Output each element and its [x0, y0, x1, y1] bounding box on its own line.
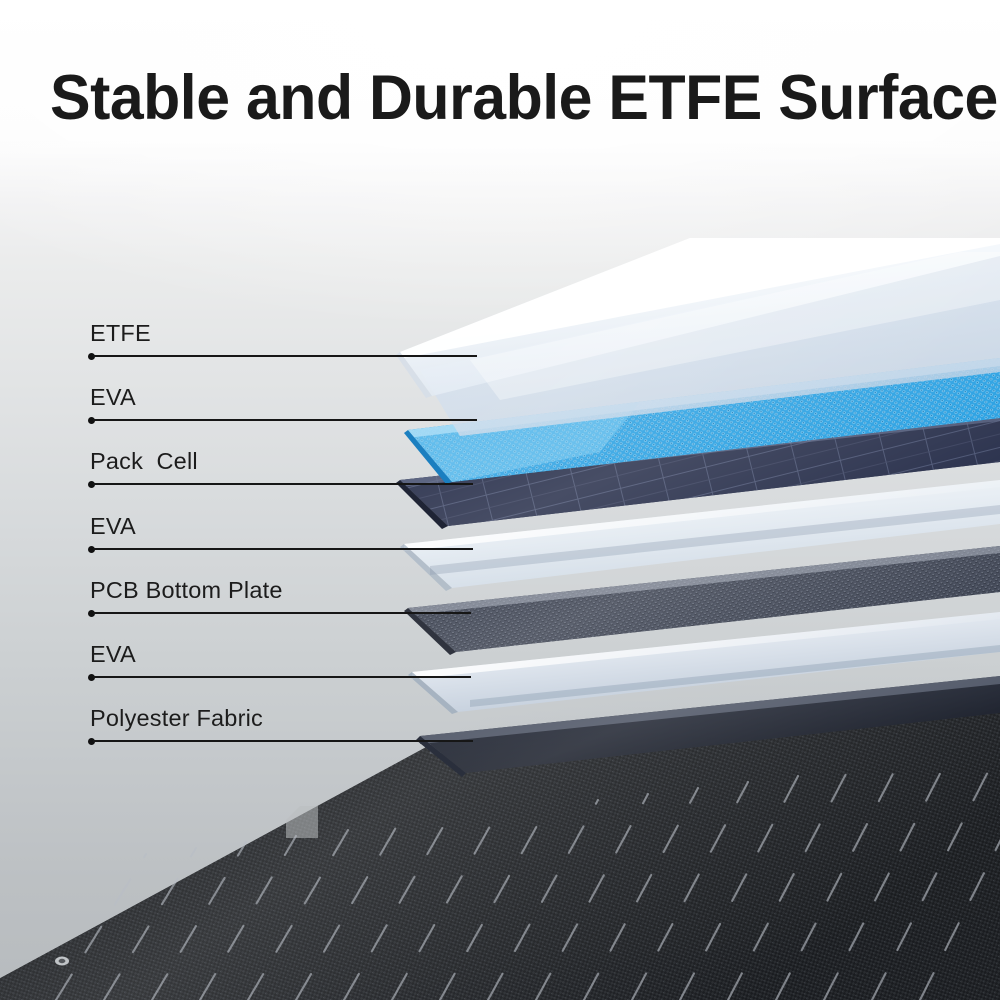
- callout-label-pack-cell: Pack Cell: [90, 448, 198, 474]
- callout-line-polyester-fabric: [93, 740, 473, 742]
- callout-line-eva-1: [93, 419, 477, 421]
- product-infographic-page: Stable and Durable ETFE Surface ETFE EVA…: [0, 0, 1000, 1000]
- callout-label-etfe: ETFE: [90, 320, 151, 346]
- callout-label-eva-2: EVA: [90, 513, 136, 539]
- callout-label-eva-3: EVA: [90, 641, 136, 667]
- layer-callouts: ETFE EVA Pack Cell EVA PCB Bottom Plate …: [0, 0, 1000, 1000]
- callout-line-eva-2: [93, 548, 473, 550]
- callout-label-polyester-fabric: Polyester Fabric: [90, 705, 263, 731]
- callout-line-pcb-bottom-plate: [93, 612, 471, 614]
- callout-line-eva-3: [93, 676, 471, 678]
- callout-line-etfe: [93, 355, 477, 357]
- callout-label-eva-1: EVA: [90, 384, 136, 410]
- callout-label-pcb-bottom-plate: PCB Bottom Plate: [90, 577, 283, 603]
- callout-line-pack-cell: [93, 483, 473, 485]
